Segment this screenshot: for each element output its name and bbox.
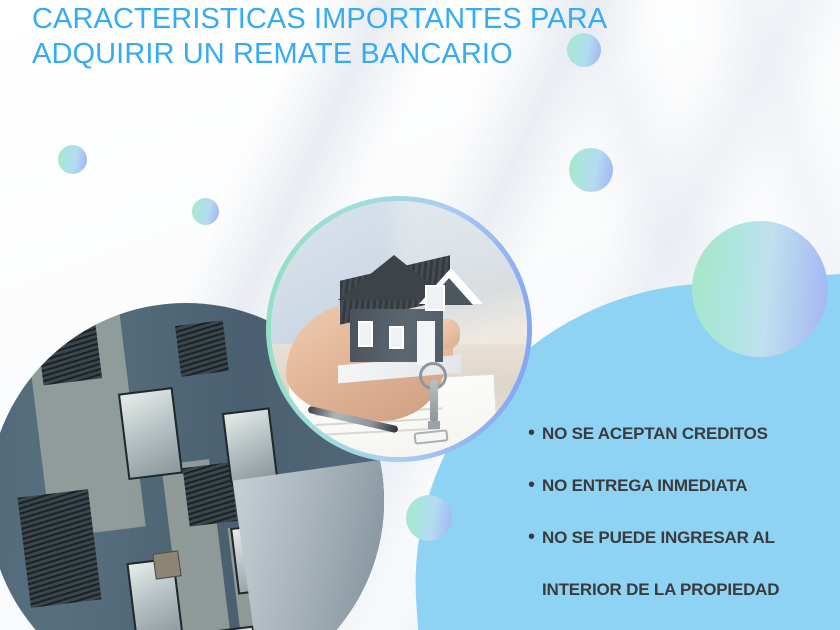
building-shutter [17, 489, 101, 608]
house-in-hand-photo [271, 201, 527, 457]
list-item-label: NO SE ACEPTAN CREDITOS [542, 422, 768, 446]
building-wall-lamp [153, 551, 182, 580]
bullet-dot-icon: • [528, 474, 542, 496]
building-window [118, 387, 184, 480]
building-window [221, 407, 277, 484]
list-item-label: NO ENTREGA INMEDIATA [542, 474, 747, 498]
decorative-bubble [406, 495, 452, 541]
list-item-label: NO SE PUEDE INGRESAR AL [542, 526, 775, 550]
list-item: • NO SE ACEPTAN CREDITOS [528, 422, 840, 446]
house-window [425, 285, 445, 311]
features-list: • NO SE ACEPTAN CREDITOS • NO ENTREGA IN… [528, 422, 840, 602]
decorative-bubble [58, 145, 87, 174]
bullet-dot-icon: • [528, 422, 542, 444]
house-window [389, 326, 404, 349]
house-window [358, 321, 373, 347]
list-item-label-continuation: INTERIOR DE LA PROPIEDAD [542, 578, 840, 602]
house-door [417, 321, 435, 365]
building-shutter [175, 320, 228, 377]
building-shutter [35, 308, 103, 386]
list-item: • NO SE PUEDE INGRESAR AL [528, 526, 840, 550]
bullet-dot-icon: • [528, 526, 542, 548]
poster-canvas: CARACTERISTICAS IMPORTANTES PARA ADQUIRI… [0, 0, 840, 630]
decorative-bubble [569, 148, 613, 192]
decorative-bubble-large [692, 221, 828, 357]
building-adjacent-block [233, 460, 384, 630]
decorative-bubble [192, 198, 219, 225]
key-bit [428, 421, 440, 429]
page-title: CARACTERISTICAS IMPORTANTES PARA ADQUIRI… [32, 2, 632, 72]
house-photo-ring [266, 196, 532, 462]
title-line-2: ADQUIRIR UN REMATE BANCARIO [32, 37, 632, 72]
title-line-1: CARACTERISTICAS IMPORTANTES PARA [32, 2, 632, 37]
key-icon [430, 380, 438, 422]
list-item: • NO ENTREGA INMEDIATA [528, 474, 840, 498]
